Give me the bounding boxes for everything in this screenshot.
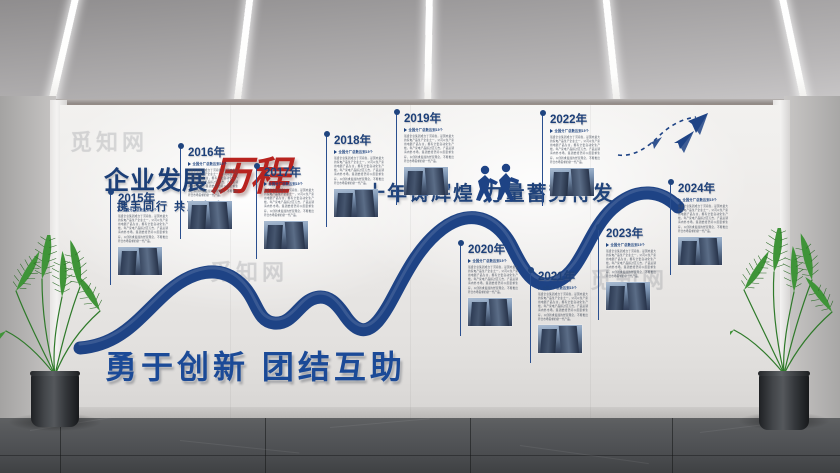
card-photo-building [550, 168, 594, 196]
triangle-bullet-icon [468, 259, 471, 263]
floor [0, 418, 840, 473]
card-year: 2017年 [264, 167, 314, 180]
card-photo-building [334, 189, 378, 217]
card-caption: 全国分厂总数达到15个 [264, 181, 314, 186]
card-year: 2019年 [404, 113, 454, 126]
card-photo-building [264, 221, 308, 249]
office-wall-scene: 觅知网 觅知网 觅知网 觅知网 企业发展 历程 携手同行 共赢未来 十年铸辉煌 … [0, 0, 840, 473]
triangle-bullet-icon [118, 208, 121, 212]
card-photo-building [468, 298, 512, 326]
card-year: 2024年 [678, 183, 728, 196]
card-paragraph: 强盛企业集团成立于河南省，是国内最大的家电产品生产企业之一，公司以生产家用电器产… [538, 293, 588, 322]
card-caption: 全国分厂总数达到15个 [606, 242, 656, 247]
areca-palm-left [0, 235, 110, 425]
card-caption: 全国分厂总数达到15个 [334, 149, 384, 154]
card-year: 2015年 [118, 193, 168, 206]
card-caption: 全国分厂总数达到15个 [538, 285, 588, 290]
timeline-card-2021[interactable]: 2021年 全国分厂总数达到15个 强盛企业集团成立于河南省，是国内最大的家电产… [530, 271, 588, 353]
card-photo-building [404, 167, 448, 195]
card-caption: 全国分厂总数达到15个 [678, 197, 728, 202]
card-photo-building [538, 325, 582, 353]
card-photo-building [118, 247, 162, 275]
triangle-bullet-icon [188, 162, 191, 166]
triangle-bullet-icon [334, 150, 337, 154]
triangle-bullet-icon [678, 198, 681, 202]
timeline-card-2017[interactable]: 2017年 全国分厂总数达到15个 强盛企业集团成立于河南省，是国内最大的家电产… [256, 167, 314, 249]
card-paragraph: 强盛企业集团成立于河南省，是国内最大的家电产品生产企业之一，公司以生产家用电器产… [678, 205, 728, 234]
feature-wall: 觅知网 觅知网 觅知网 觅知网 企业发展 历程 携手同行 共赢未来 十年铸辉煌 … [60, 105, 780, 423]
card-year: 2018年 [334, 135, 384, 148]
triangle-bullet-icon [404, 128, 407, 132]
timeline-card-2018[interactable]: 2018年 全国分厂总数达到15个 强盛企业集团成立于河南省，是国内最大的家电产… [326, 135, 384, 217]
card-photo-building [678, 237, 722, 265]
card-caption: 全国分厂总数达到15个 [188, 161, 238, 166]
card-paragraph: 强盛企业集团成立于河南省，是国内最大的家电产品生产企业之一，公司以生产家用电器产… [404, 135, 454, 164]
card-caption: 全国分厂总数达到15个 [550, 128, 600, 133]
card-paragraph: 强盛企业集团成立于河南省，是国内最大的家电产品生产企业之一，公司以生产家用电器产… [188, 169, 238, 198]
timeline-card-2023[interactable]: 2023年 全国分厂总数达到15个 强盛企业集团成立于河南省，是国内最大的家电产… [598, 228, 656, 310]
timeline-card-2020[interactable]: 2020年 全国分厂总数达到15个 强盛企业集团成立于河南省，是国内最大的家电产… [460, 244, 518, 326]
card-caption: 全国分厂总数达到15个 [468, 258, 518, 263]
card-year: 2022年 [550, 114, 600, 127]
triangle-bullet-icon [264, 182, 267, 186]
card-photo-building [606, 282, 650, 310]
timeline-card-2024[interactable]: 2024年 全国分厂总数达到15个 强盛企业集团成立于河南省，是国内最大的家电产… [670, 183, 728, 265]
plant-pot-left [31, 372, 79, 427]
card-paragraph: 强盛企业集团成立于河南省，是国内最大的家电产品生产企业之一，公司以生产家用电器产… [264, 189, 314, 218]
triangle-bullet-icon [538, 286, 541, 290]
card-paragraph: 强盛企业集团成立于河南省，是国内最大的家电产品生产企业之一，公司以生产家用电器产… [468, 266, 518, 295]
running-figures-icon [471, 163, 527, 215]
card-caption: 全国分厂总数达到15个 [118, 207, 168, 212]
card-year: 2020年 [468, 244, 518, 257]
ceiling [0, 0, 840, 103]
paper-airplanes-icon [616, 113, 708, 167]
card-paragraph: 强盛企业集团成立于河南省，是国内最大的家电产品生产企业之一，公司以生产家用电器产… [606, 250, 656, 279]
timeline-card-2022[interactable]: 2022年 全国分厂总数达到15个 强盛企业集团成立于河南省，是国内最大的家电产… [542, 114, 600, 196]
card-paragraph: 强盛企业集团成立于河南省，是国内最大的家电产品生产企业之一，公司以生产家用电器产… [550, 136, 600, 165]
card-year: 2021年 [538, 271, 588, 284]
card-caption: 全国分厂总数达到15个 [404, 127, 454, 132]
timeline-card-2019[interactable]: 2019年 全国分厂总数达到15个 强盛企业集团成立于河南省，是国内最大的家电产… [396, 113, 454, 195]
timeline-card-2016[interactable]: 2016年 全国分厂总数达到15个 强盛企业集团成立于河南省，是国内最大的家电产… [180, 147, 238, 229]
triangle-bullet-icon [606, 243, 609, 247]
areca-palm-right [730, 228, 838, 424]
triangle-bullet-icon [550, 129, 553, 133]
card-year: 2023年 [606, 228, 656, 241]
plant-pot-right [759, 372, 809, 430]
card-photo-building [188, 201, 232, 229]
card-paragraph: 强盛企业集团成立于河南省，是国内最大的家电产品生产企业之一，公司以生产家用电器产… [118, 215, 168, 244]
card-paragraph: 强盛企业集团成立于河南省，是国内最大的家电产品生产企业之一，公司以生产家用电器产… [334, 157, 384, 186]
timeline-card-2015[interactable]: 2015年 全国分厂总数达到15个 强盛企业集团成立于河南省，是国内最大的家电产… [110, 193, 168, 275]
card-year: 2016年 [188, 147, 238, 160]
